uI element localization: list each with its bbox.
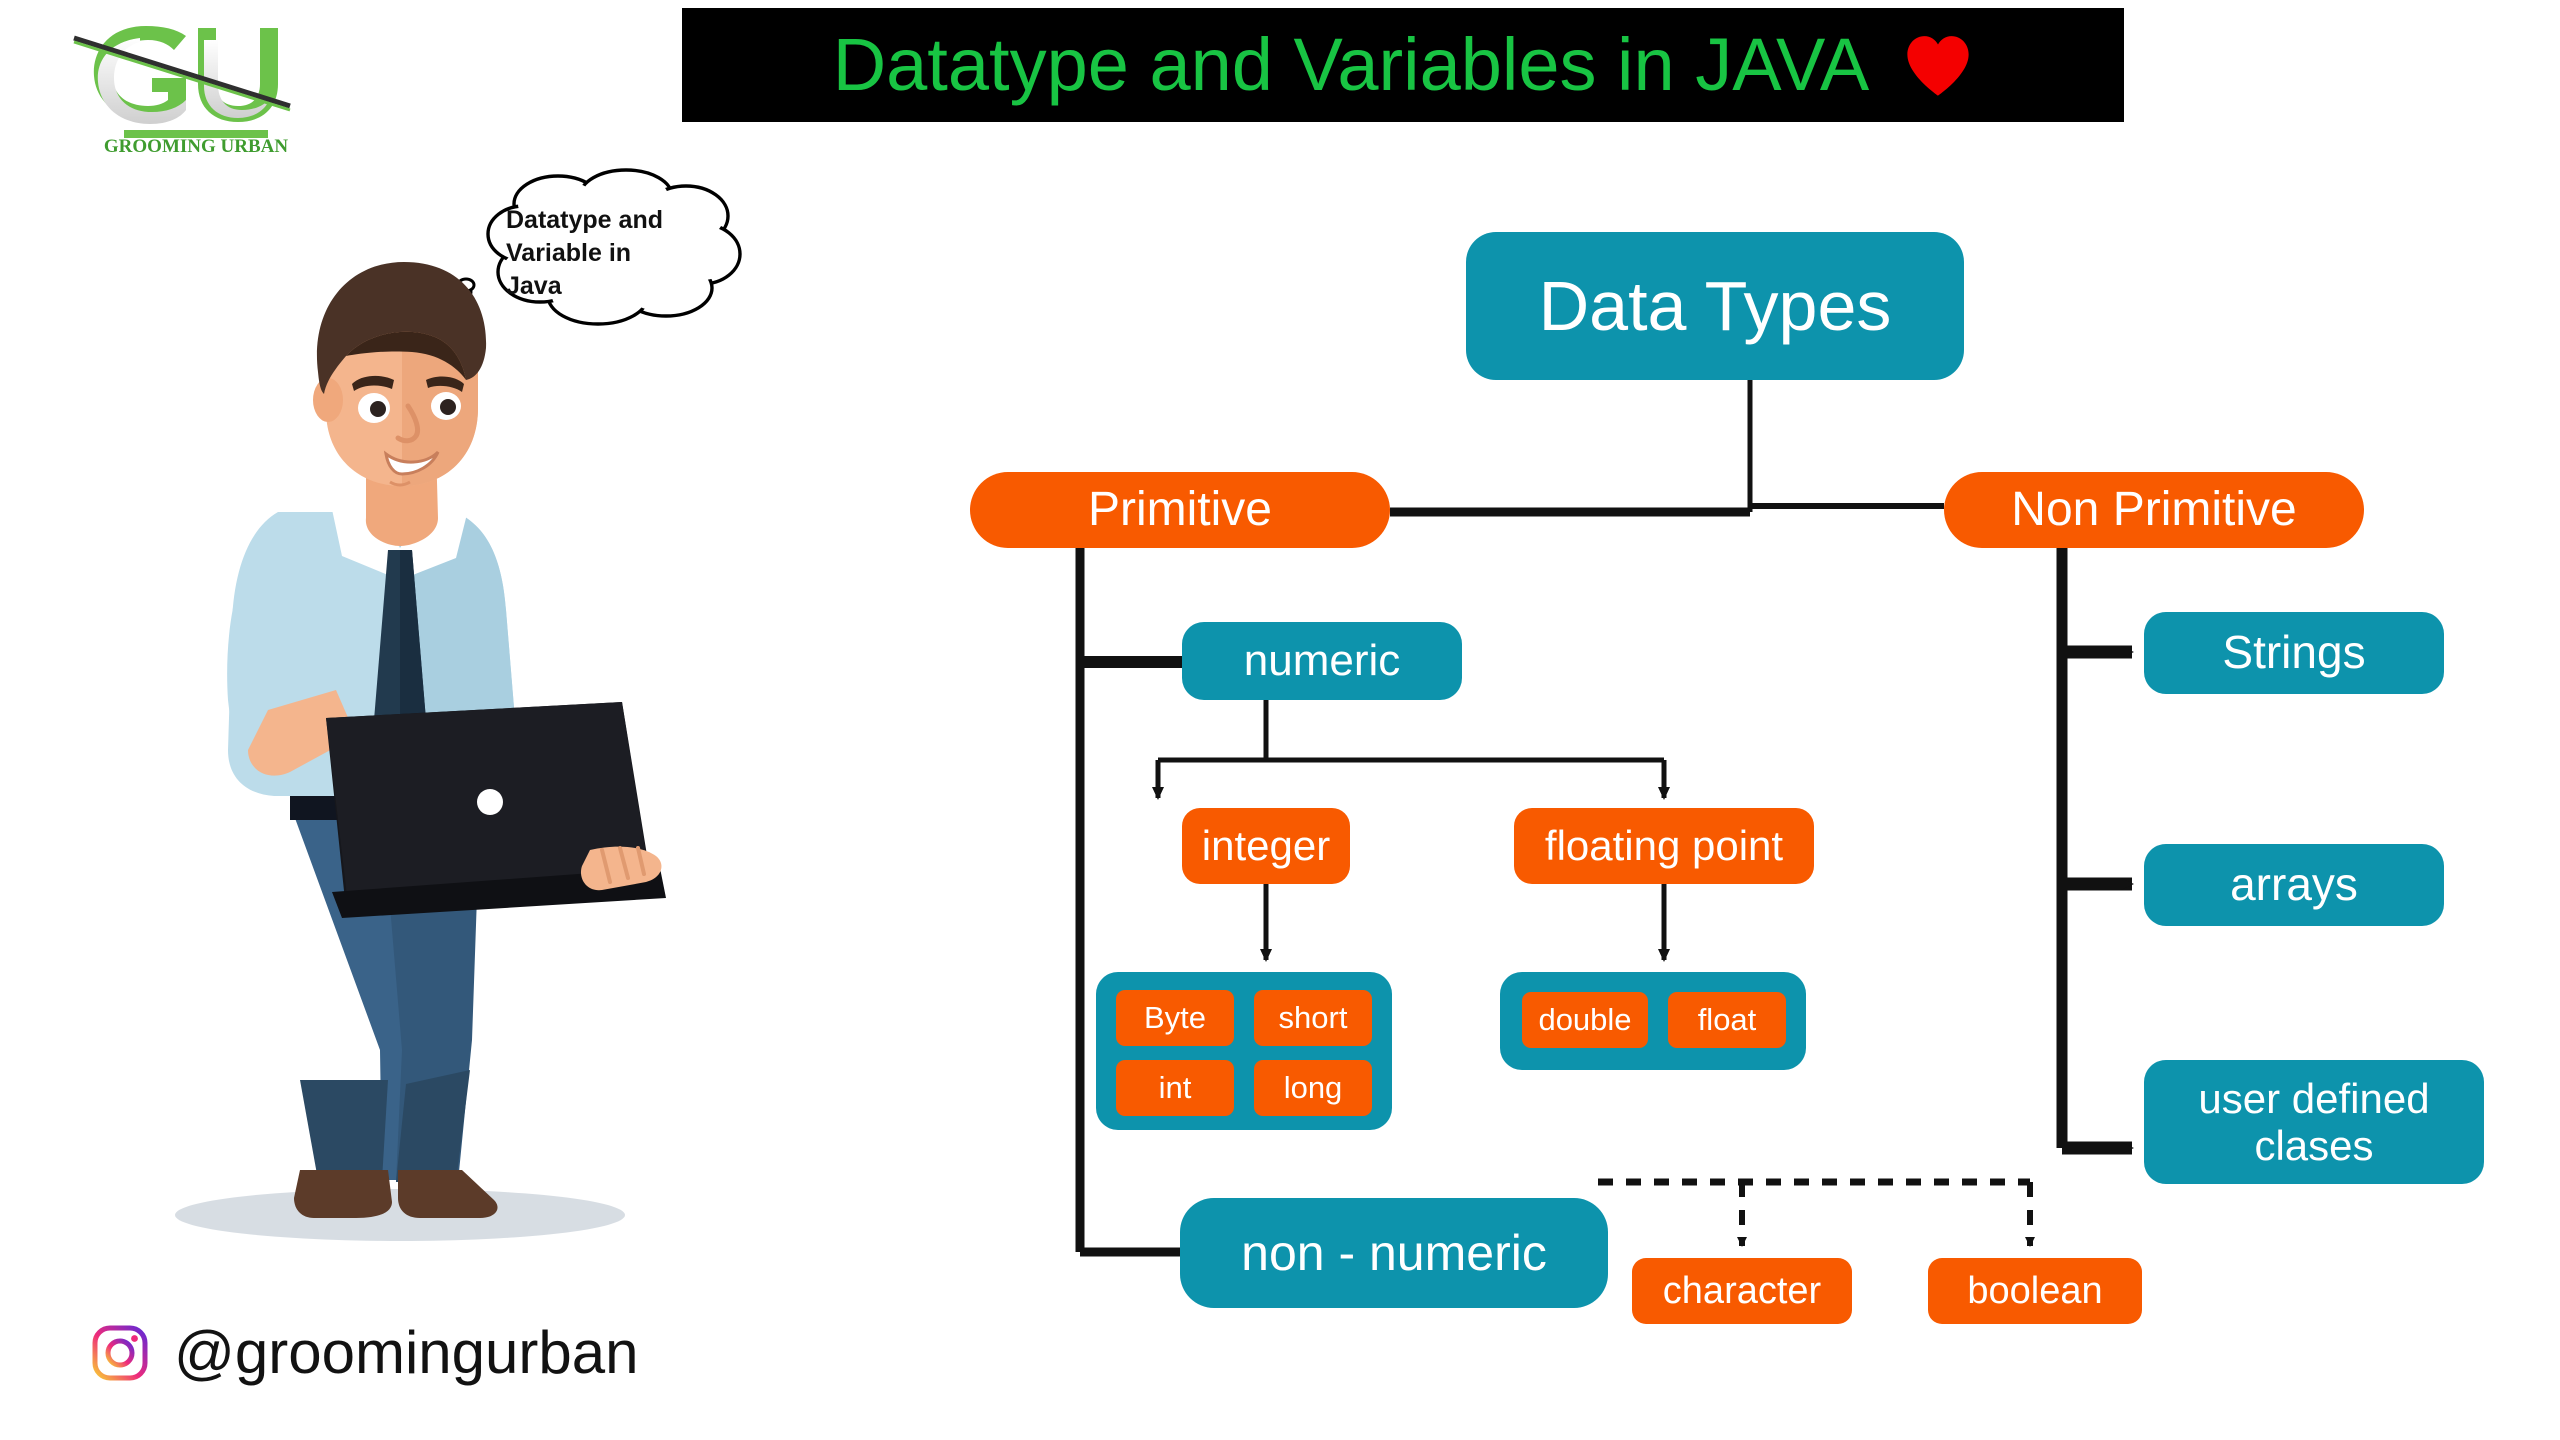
node-floating-point[interactable]: floating point (1514, 808, 1814, 884)
title-banner: Datatype and Variables in JAVA (682, 8, 2124, 122)
chip-float[interactable]: float (1668, 992, 1786, 1048)
chip-double[interactable]: double (1522, 992, 1648, 1048)
node-numeric[interactable]: numeric (1182, 622, 1462, 700)
instagram-handle[interactable]: @groomingurban (174, 1318, 639, 1387)
heart-icon (1903, 32, 1973, 98)
instagram-credit[interactable]: @groomingurban (92, 1318, 639, 1387)
group-floating-types: double float (1500, 972, 1806, 1070)
node-non-primitive[interactable]: Non Primitive (1944, 472, 2364, 548)
logo-wordmark: GROOMING URBAN (104, 136, 288, 154)
node-user-defined-clases[interactable]: user defined clases (2144, 1060, 2484, 1184)
node-data-types[interactable]: Data Types (1466, 232, 1964, 380)
person-graphic (150, 250, 670, 1260)
grooming-urban-logo: GROOMING URBAN (68, 4, 294, 154)
node-arrays[interactable]: arrays (2144, 844, 2444, 926)
chip-long[interactable]: long (1254, 1060, 1372, 1116)
node-character[interactable]: character (1632, 1258, 1852, 1324)
node-strings[interactable]: Strings (2144, 612, 2444, 694)
group-integer-types: Byte short int long (1096, 972, 1392, 1130)
man-with-laptop-illustration (150, 250, 670, 1260)
node-primitive[interactable]: Primitive (970, 472, 1390, 548)
instagram-icon[interactable] (92, 1325, 148, 1381)
chip-short[interactable]: short (1254, 990, 1372, 1046)
chip-int[interactable]: int (1116, 1060, 1234, 1116)
node-integer[interactable]: integer (1182, 808, 1350, 884)
page-title: Datatype and Variables in JAVA (833, 28, 1870, 102)
chip-byte[interactable]: Byte (1116, 990, 1234, 1046)
node-non-numeric[interactable]: non - numeric (1180, 1198, 1608, 1308)
node-boolean[interactable]: boolean (1928, 1258, 2142, 1324)
logo-icon: GROOMING URBAN (68, 4, 294, 154)
slide-canvas: GROOMING URBAN Datatype and Variables in… (0, 0, 2560, 1440)
